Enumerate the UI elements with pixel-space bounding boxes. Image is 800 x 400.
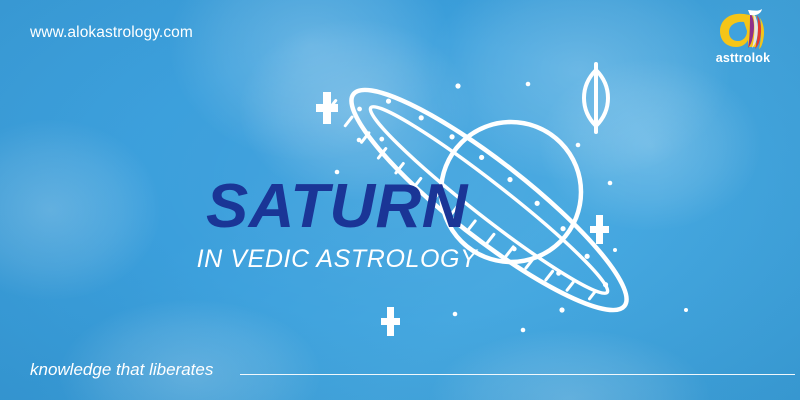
brand-logo[interactable]: asttrolok: [704, 8, 782, 65]
cloud-texture-1: [170, 0, 450, 160]
cloud-texture-6: [430, 330, 710, 400]
asttrolok-a-mark-icon: [714, 8, 772, 50]
saturn-vedic-astrology-banner: www.alokastrology.com asttrolok: [0, 0, 800, 400]
saturn-astrological-symbol-icon: [584, 64, 608, 132]
brand-tagline: knowledge that liberates: [30, 360, 213, 380]
site-url-label: www.alokastrology.com: [30, 24, 193, 42]
cloud-texture-5: [60, 300, 320, 400]
cloud-texture-3: [430, 0, 730, 180]
hero-title-block: SATURN IN VEDIC ASTROLOGY: [172, 176, 502, 272]
cloud-texture-7: [0, 120, 160, 300]
page-title: SATURN: [169, 176, 506, 238]
page-subtitle: IN VEDIC ASTROLOGY: [172, 247, 502, 272]
cloud-texture-4: [540, 60, 760, 230]
horizontal-rule-divider: [240, 374, 795, 375]
brand-logo-text: asttrolok: [704, 51, 782, 65]
